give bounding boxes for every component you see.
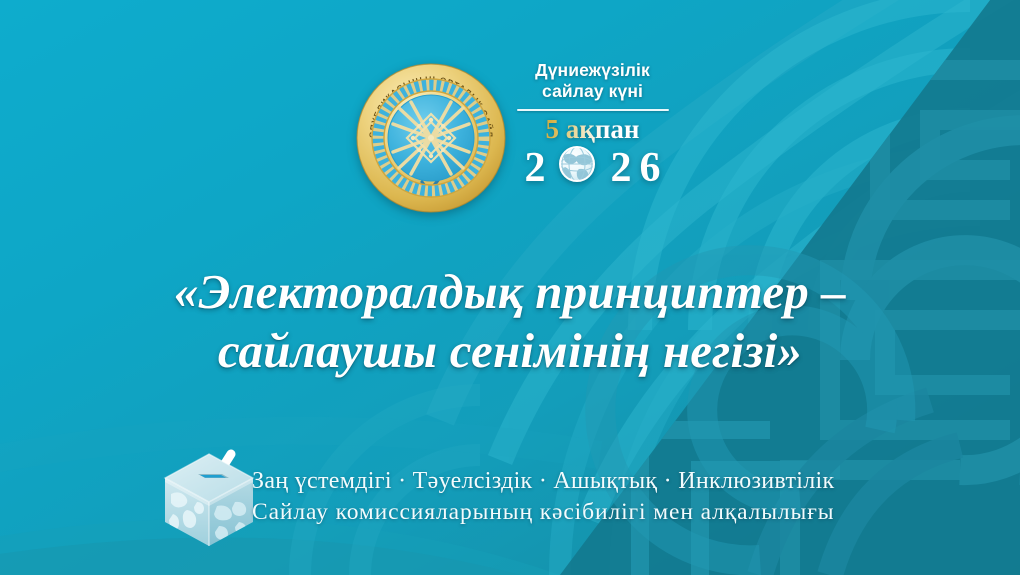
event-year: 2	[505, 143, 680, 187]
header-divider	[517, 109, 669, 112]
header-line-1: Дүниежүзілік	[505, 60, 680, 81]
slogan-block: Заң үстемдігі · Тәуелсіздік · Ашықтық · …	[252, 466, 872, 528]
cec-emblem: РЕСПУБЛИКАСЫНЫҢ ОРТАЛЫҚ САЙЛАУ ҚАЗАҚСТАН…	[355, 62, 507, 214]
year-digit-2b: 2	[611, 145, 632, 187]
header-line-2: сайлау күні	[505, 81, 680, 102]
poster-canvas: РЕСПУБЛИКАСЫНЫҢ ОРТАЛЫҚ САЙЛАУ ҚАЗАҚСТАН…	[0, 0, 1020, 575]
year-digit-2: 2	[525, 145, 546, 187]
globe-icon	[560, 147, 594, 181]
slogan-line-1: Заң үстемдігі · Тәуелсіздік · Ашықтық · …	[252, 466, 872, 497]
title-line-1: «Электоралдық принциптер –	[174, 264, 846, 319]
world-election-day-header: Дүниежүзілік сайлау күні 5 ақпан 2	[505, 60, 680, 187]
poster-title: «Электоралдық принциптер – сайлаушы сені…	[0, 262, 1020, 381]
year-digit-6: 6	[640, 145, 661, 187]
slogan-line-2: Сайлау комиссияларының кәсібилігі мен ал…	[252, 497, 872, 528]
event-date: 5 ақпан	[505, 115, 680, 143]
ballot-box-icon	[157, 442, 261, 550]
title-line-2: сайлаушы сенімінің негізі»	[0, 321, 1020, 380]
